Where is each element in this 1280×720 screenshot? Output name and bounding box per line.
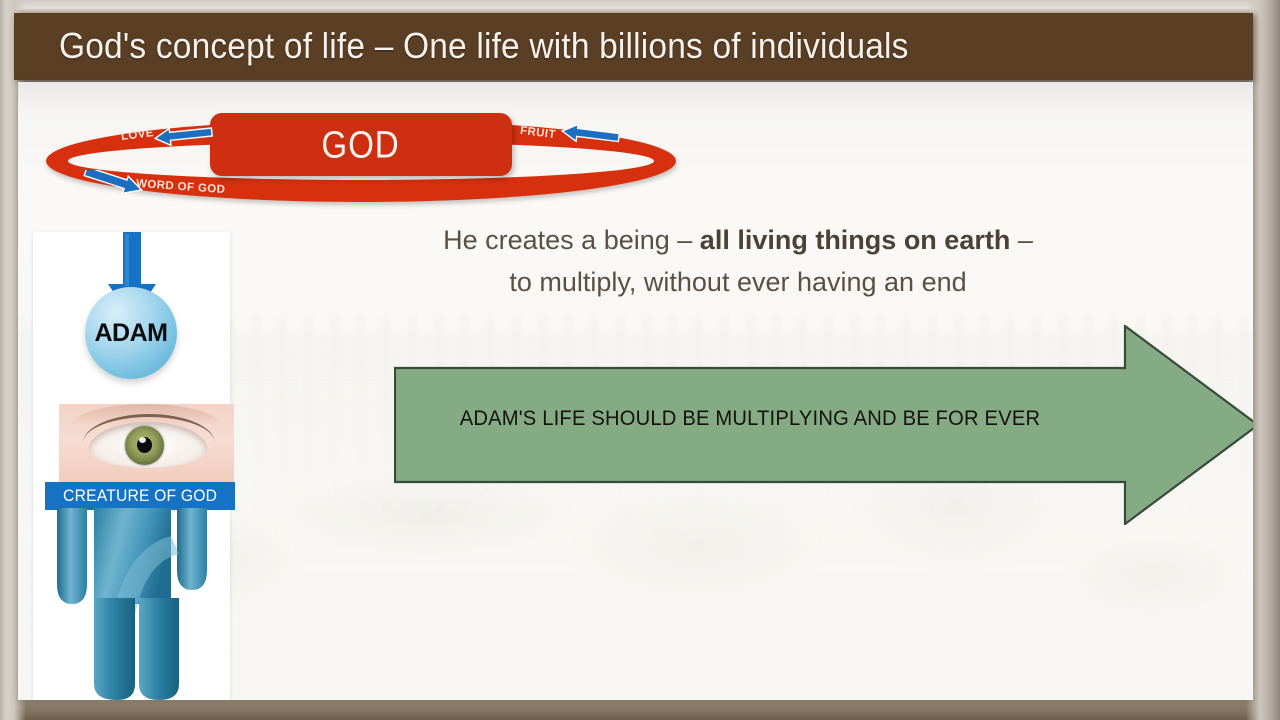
main-paragraph-line2: to multiply, without ever having an end	[348, 262, 1128, 304]
main-paragraph: He creates a being – all living things o…	[348, 220, 1128, 304]
adam-head-label: ADAM	[95, 319, 168, 348]
adam-figure-card: ADAM CREATURE OF GOD	[33, 232, 230, 700]
arrow-left-icon	[152, 126, 214, 151]
main-line1-suffix: –	[1010, 225, 1033, 255]
adam-head: ADAM	[85, 287, 177, 379]
green-arrow-banner: ADAM'S LIFE SHOULD BE MULTIPLYING AND BE…	[394, 325, 1253, 525]
green-arrow-label: ADAM'S LIFE SHOULD BE MULTIPLYING AND BE…	[408, 407, 1092, 431]
slide-header-bar: God's concept of life – One life with bi…	[14, 13, 1253, 80]
creature-of-god-banner: CREATURE OF GOD	[45, 482, 235, 510]
main-paragraph-line1: He creates a being – all living things o…	[348, 220, 1128, 262]
creature-of-god-label: CREATURE OF GOD	[63, 487, 217, 506]
arrow-left-icon	[559, 124, 621, 151]
eye-photo	[59, 404, 234, 482]
arrow-right-icon	[82, 170, 146, 199]
main-line1-prefix: He creates a being –	[443, 225, 700, 255]
slide-body: GOD LOVE FRUIT WORD OF GOD	[18, 82, 1253, 700]
page-title: God's concept of life – One life with bi…	[59, 25, 909, 67]
god-box: GOD	[210, 113, 512, 176]
main-line1-bold: all living things on earth	[700, 225, 1011, 255]
god-label: GOD	[322, 122, 400, 166]
adam-body-figure	[39, 508, 225, 700]
slide-frame: God's concept of life – One life with bi…	[0, 0, 1280, 720]
god-cycle-diagram: GOD LOVE FRUIT WORD OF GOD	[32, 102, 692, 232]
